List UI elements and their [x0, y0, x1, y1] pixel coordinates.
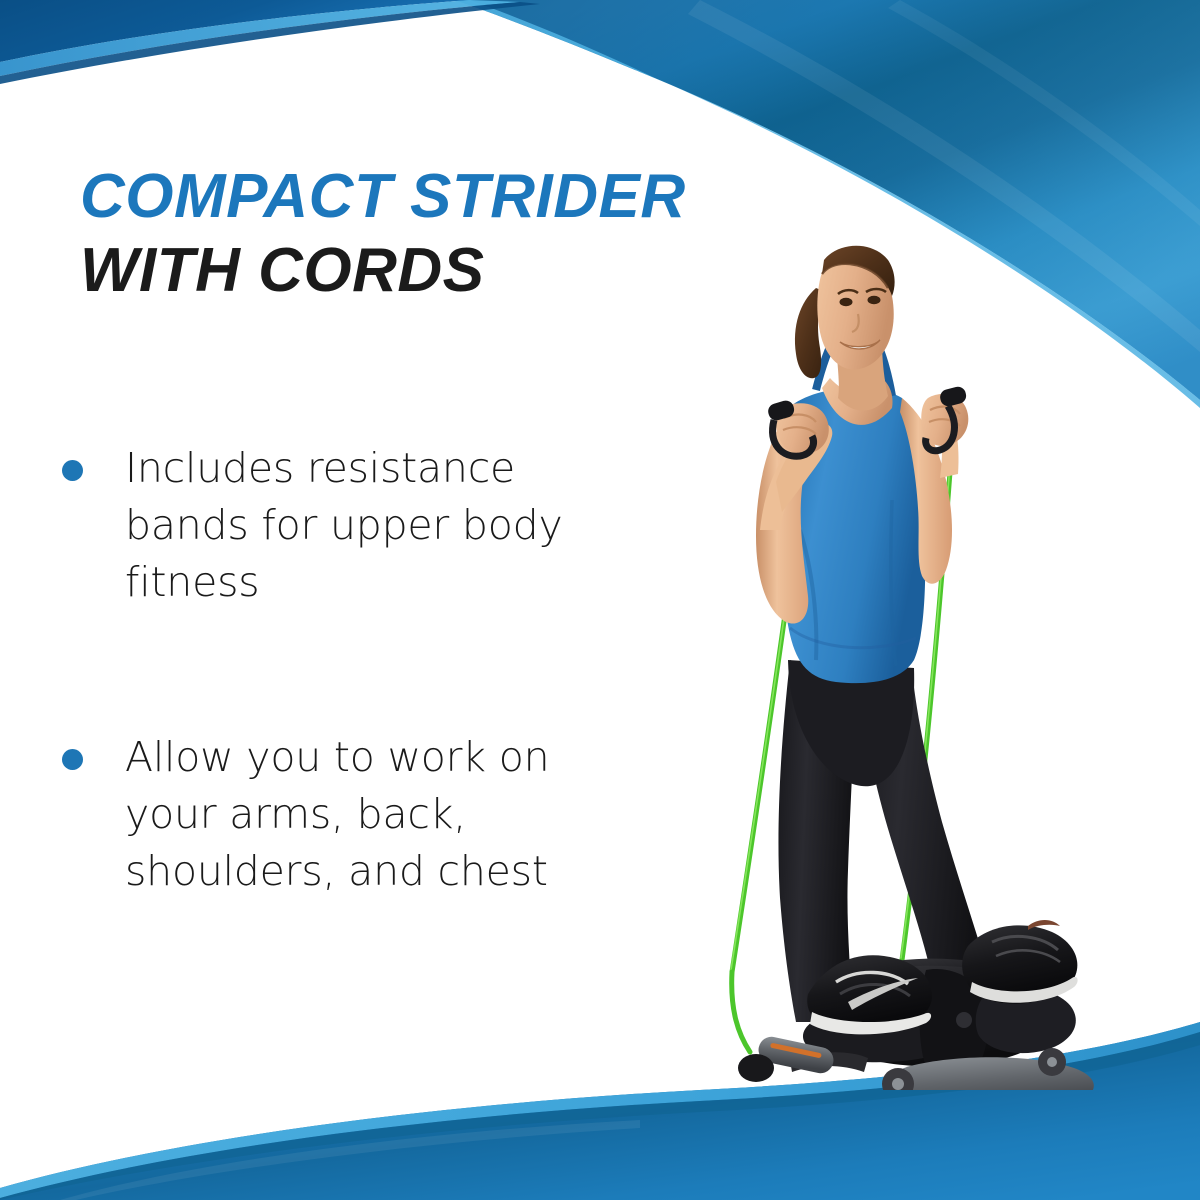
product-photo: [640, 230, 1160, 1090]
list-item-label: Allow you to work on your arms, back, sh…: [125, 729, 622, 900]
blue-arc-top-left: [0, 0, 540, 84]
green-resistance-cords-lower: [732, 972, 750, 1052]
head: [795, 246, 895, 411]
bullet-dot-icon: [62, 460, 83, 481]
product-feature-card: COMPACT STRIDER WITH CORDS Includes resi…: [0, 0, 1200, 1200]
list-item-label: Includes resistance bands for upper body…: [125, 440, 622, 611]
headline-line-1: COMPACT STRIDER: [80, 160, 840, 234]
feature-list: Includes resistance bands for upper body…: [62, 440, 622, 900]
list-item: Allow you to work on your arms, back, sh…: [62, 729, 622, 900]
bullet-dot-icon: [62, 749, 83, 770]
list-item: Includes resistance bands for upper body…: [62, 440, 622, 611]
